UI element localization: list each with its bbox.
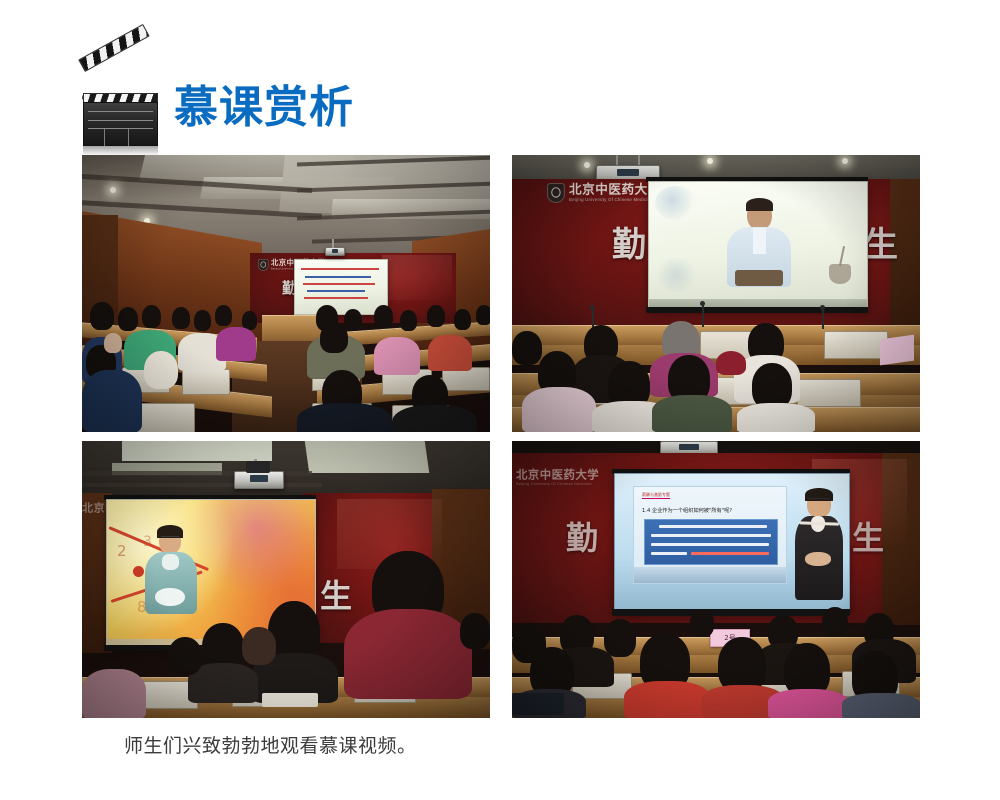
wall-character-sheng: 生 — [320, 571, 352, 617]
wall-character-qin: 勤 — [566, 513, 598, 559]
clapperboard-arm — [78, 24, 150, 72]
photo-mooc-female-lecturer-colorful[interactable]: 北京中医药大学 生 2 3 8 — [82, 441, 490, 718]
wall-character-sheng: 生 — [852, 513, 884, 559]
university-shield-icon — [547, 183, 565, 203]
page-header: 慕课赏析 — [82, 52, 582, 152]
projection-screen — [648, 181, 868, 311]
projection-screen — [294, 259, 388, 315]
gallery-caption: 师生们兴致勃勃地观看慕课视频。 — [124, 731, 417, 758]
clapperboard-divider — [88, 128, 153, 129]
ceiling-projector — [325, 247, 345, 256]
university-name-cn: 北京中医药大学 — [516, 469, 599, 480]
university-shield-icon — [258, 259, 269, 271]
clapperboard-icon — [82, 52, 160, 152]
slide-card: 薪酬与激励专题 1.4 企业作为一个组织如何被"所有"呢? — [633, 486, 787, 584]
projection-screen: 薪酬与激励专题 1.4 企业作为一个组织如何被"所有"呢? — [614, 473, 850, 613]
slide-tag: 薪酬与激励专题 — [642, 492, 670, 499]
clapperboard-body — [83, 102, 158, 146]
slide-heading: 1.4 企业作为一个组织如何被"所有"呢? — [642, 507, 732, 514]
photo-mooc-male-lecturer[interactable]: 北京中医药大学 Beijing University Of Chinese Me… — [512, 155, 920, 432]
page-title: 慕课赏析 — [174, 86, 354, 130]
wall-character-qin: 勤 — [612, 217, 646, 266]
wall-character-sheng: 生 — [864, 217, 898, 266]
photo-lecture-hall-wide[interactable]: 北京中医药大学 Beijing University Of Chinese Me… — [82, 155, 490, 432]
slide-body-box — [644, 519, 778, 565]
photo-gallery: 北京中医药大学 Beijing University Of Chinese Me… — [82, 155, 920, 718]
university-name-en: Beijing University Of Chinese Medicine — [516, 482, 599, 486]
ceiling-projector — [234, 471, 284, 489]
photo-mooc-slide-enterprise[interactable]: 北京中医药大学 Beijing University Of Chinese Me… — [512, 441, 920, 718]
